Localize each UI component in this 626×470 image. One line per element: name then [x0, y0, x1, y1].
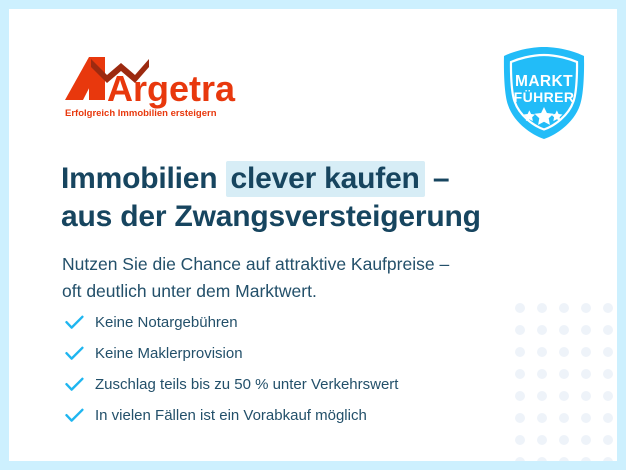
decorative-dot [603, 303, 613, 313]
decorative-dot [581, 391, 591, 401]
decorative-dot [581, 369, 591, 379]
list-item-label: Keine Notargebühren [95, 314, 238, 331]
decorative-dot [603, 457, 613, 467]
decorative-dot [603, 435, 613, 445]
list-item: Keine Maklerprovision [65, 338, 505, 369]
subheadline-line-1: Nutzen Sie die Chance auf attraktive Kau… [62, 251, 522, 278]
dot-pattern-decoration [509, 297, 617, 470]
decorative-dot [559, 325, 569, 335]
decorative-dot [559, 435, 569, 445]
decorative-dot [537, 303, 547, 313]
decorative-dot [581, 435, 591, 445]
decorative-dot [603, 391, 613, 401]
decorative-dot [581, 413, 591, 423]
decorative-dot [603, 347, 613, 357]
subheadline-line-2: oft deutlich unter dem Marktwert. [62, 278, 522, 305]
check-icon [65, 405, 95, 427]
argetra-logo-icon: Argetra Erfolgreich Immobilien ersteiger… [63, 53, 243, 125]
headline-part-2: – [425, 162, 450, 195]
list-item-label: In vielen Fällen ist ein Vorabkauf mögli… [95, 407, 367, 424]
markt-fuehrer-badge: MARKT FÜHRER [498, 45, 590, 141]
badge-line-1: MARKT [515, 73, 573, 90]
headline-line-2: aus der Zwangsversteigerung [61, 198, 531, 236]
decorative-dot [537, 413, 547, 423]
shield-icon: MARKT FÜHRER [498, 45, 590, 141]
decorative-dot [603, 413, 613, 423]
decorative-dot [559, 391, 569, 401]
check-icon [65, 343, 95, 365]
decorative-dot [559, 369, 569, 379]
decorative-dot [603, 325, 613, 335]
decorative-dot [515, 369, 525, 379]
decorative-dot [559, 413, 569, 423]
list-item-label: Zuschlag teils bis zu 50 % unter Verkehr… [95, 376, 398, 393]
subheadline: Nutzen Sie die Chance auf attraktive Kau… [62, 251, 522, 305]
headline-part-1: Immobilien [61, 162, 226, 195]
decorative-dot [537, 325, 547, 335]
decorative-dot [515, 325, 525, 335]
decorative-dot [515, 391, 525, 401]
decorative-dot [537, 435, 547, 445]
decorative-dot [515, 435, 525, 445]
decorative-dot [581, 347, 591, 357]
list-item-label: Keine Maklerprovision [95, 345, 243, 362]
decorative-dot [603, 369, 613, 379]
decorative-dot [581, 325, 591, 335]
decorative-dot [581, 303, 591, 313]
logo-tagline: Erfolgreich Immobilien ersteigern [65, 108, 217, 119]
decorative-dot [559, 347, 569, 357]
list-item: Keine Notargebühren [65, 307, 505, 338]
list-item: In vielen Fällen ist ein Vorabkauf mögli… [65, 400, 505, 431]
list-item: Zuschlag teils bis zu 50 % unter Verkehr… [65, 369, 505, 400]
decorative-dot [559, 303, 569, 313]
decorative-dot [537, 391, 547, 401]
headline: Immobilien clever kaufen – aus der Zwang… [61, 160, 531, 237]
check-icon [65, 374, 95, 396]
decorative-dot [537, 347, 547, 357]
logo-wordmark: Argetra [107, 68, 236, 109]
decorative-dot [537, 369, 547, 379]
check-icon [65, 312, 95, 334]
decorative-dot [537, 457, 547, 467]
decorative-dot [515, 413, 525, 423]
argetra-logo: Argetra Erfolgreich Immobilien ersteiger… [63, 53, 243, 125]
benefits-checklist: Keine Notargebühren Keine Maklerprovisio… [65, 307, 505, 431]
decorative-dot [559, 457, 569, 467]
card-inner: Argetra Erfolgreich Immobilien ersteiger… [9, 9, 617, 461]
decorative-dot [515, 457, 525, 467]
decorative-dot [515, 347, 525, 357]
badge-line-2: FÜHRER [514, 89, 575, 105]
promo-card: Argetra Erfolgreich Immobilien ersteiger… [0, 0, 626, 470]
decorative-dot [581, 457, 591, 467]
headline-highlight: clever kaufen [226, 161, 425, 197]
